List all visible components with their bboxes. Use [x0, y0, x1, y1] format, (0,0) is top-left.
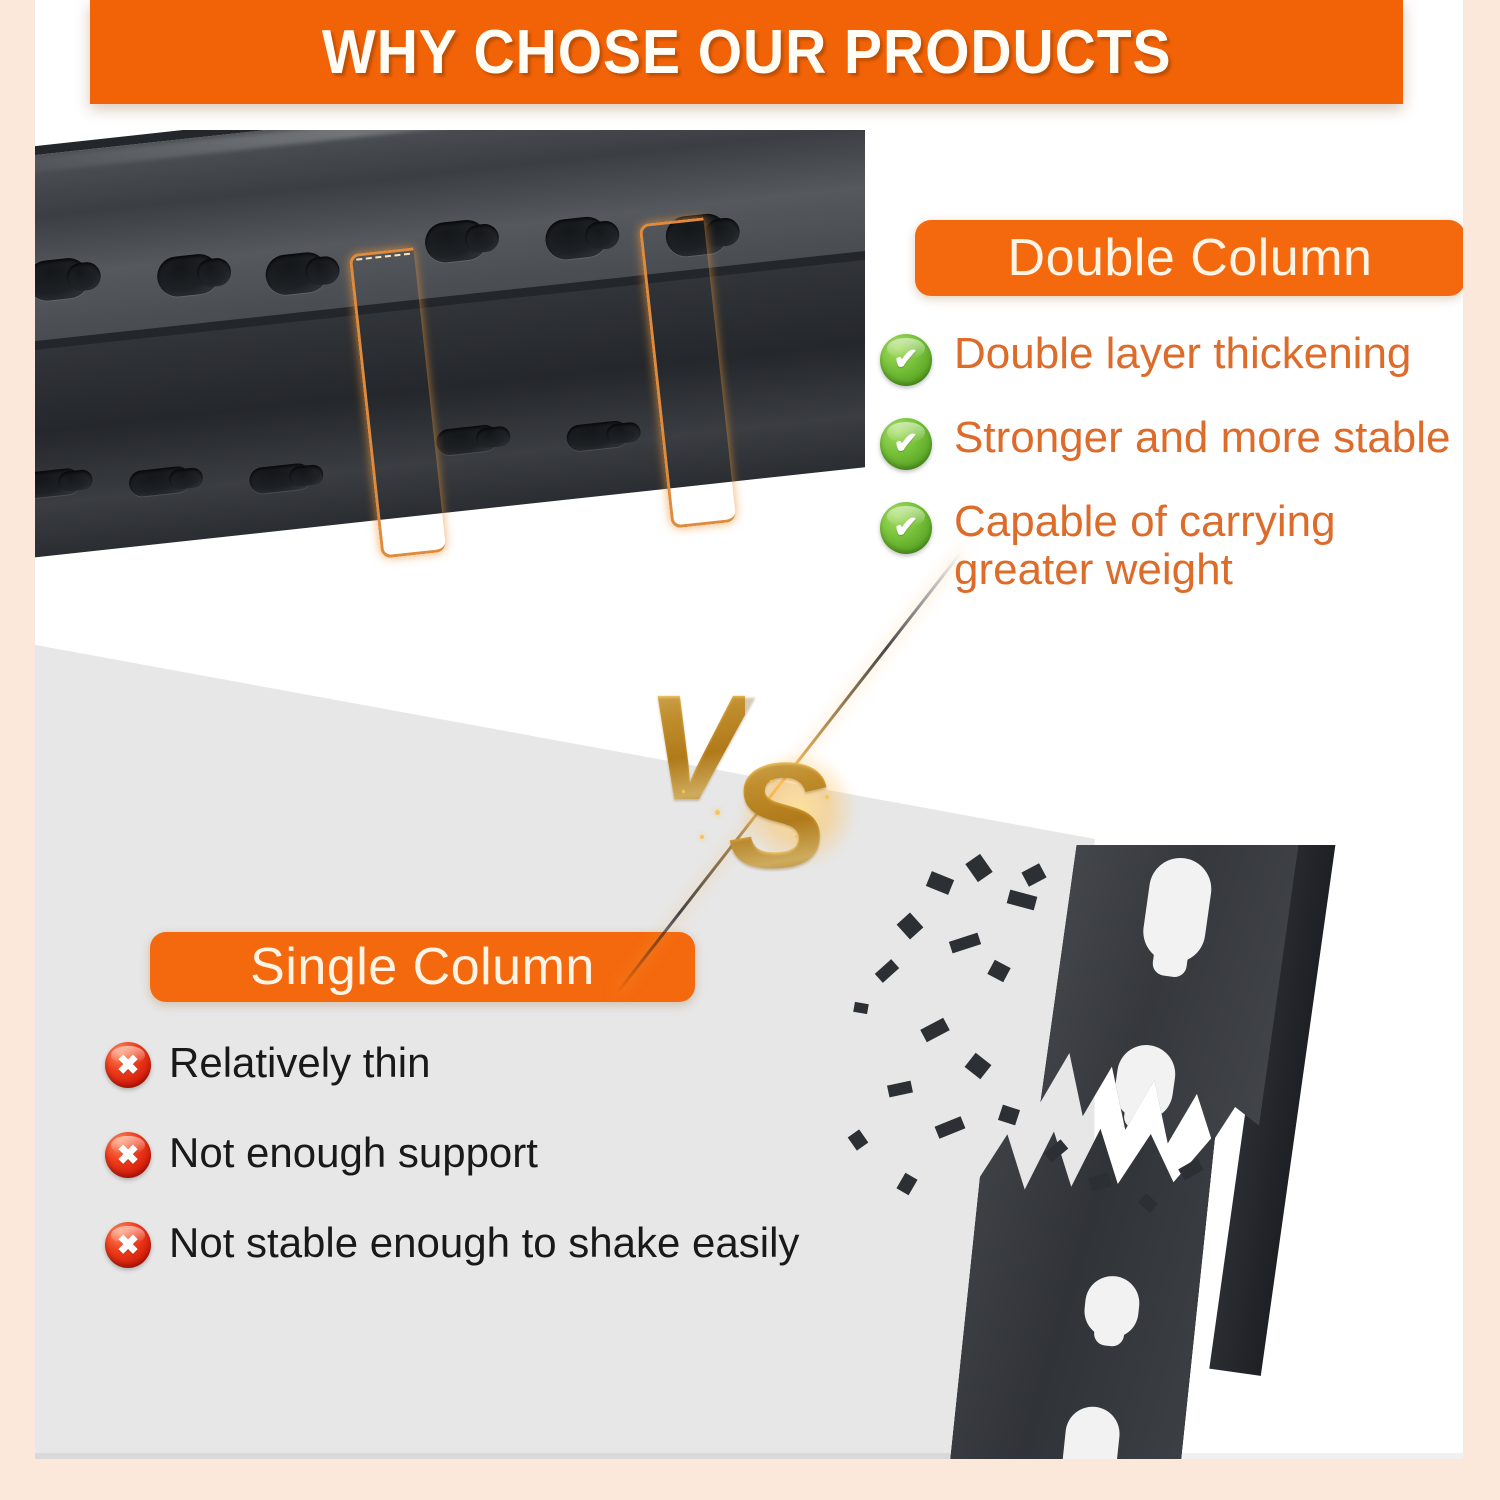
debris-fragment: [935, 1116, 966, 1139]
dash-marker: [356, 253, 410, 261]
con-label: Relatively thin: [169, 1040, 430, 1085]
header-banner: WHY CHOSE OUR PRODUCTS: [90, 0, 1403, 104]
list-item: ✖ Relatively thin: [105, 1040, 905, 1088]
spark-particle: [795, 835, 798, 838]
list-item: ✔ Capable of carrying greater weight: [880, 498, 1463, 593]
debris-fragment: [920, 1018, 950, 1043]
pro-label: Capable of carrying greater weight: [954, 498, 1384, 593]
debris-fragment: [987, 960, 1010, 983]
cross-icon-circle: ✖: [105, 1132, 151, 1178]
post-lower-fragment: [949, 1094, 1217, 1459]
double-column-photo: [35, 130, 865, 635]
badge-double-column: Double Column: [915, 220, 1463, 296]
check-icon-glyph: ✔: [893, 429, 918, 459]
spark-particle: [825, 795, 829, 799]
check-icon-circle: ✔: [880, 418, 932, 470]
debris-fragment: [1021, 863, 1046, 887]
vs-divider: V S: [620, 630, 950, 920]
spark-particle: [682, 790, 685, 793]
list-item: ✔ Double layer thickening: [880, 330, 1463, 386]
badge-single-column-label: Single Column: [250, 937, 595, 997]
cross-icon-circle: ✖: [105, 1222, 151, 1268]
keyhole-slot: [1059, 1404, 1122, 1459]
content-plate: Double Column ✔ Double layer thickening …: [35, 0, 1463, 1459]
list-item: ✔ Stronger and more stable: [880, 414, 1463, 470]
cross-icon: ✖: [105, 1042, 151, 1088]
check-icon: ✔: [880, 334, 932, 386]
check-icon: ✔: [880, 502, 932, 554]
pros-list: ✔ Double layer thickening ✔ Stronger and…: [880, 330, 1463, 621]
check-icon-circle: ✔: [880, 334, 932, 386]
check-icon-glyph: ✔: [893, 513, 918, 543]
pro-label: Stronger and more stable: [954, 414, 1451, 462]
check-icon: ✔: [880, 418, 932, 470]
check-icon-circle: ✔: [880, 502, 932, 554]
badge-double-column-label: Double Column: [1008, 228, 1373, 288]
spark-particle: [770, 780, 773, 783]
cons-list: ✖ Relatively thin ✖ Not enough support ✖: [105, 1040, 905, 1310]
product-comparison-poster: Double Column ✔ Double layer thickening …: [0, 0, 1500, 1500]
keyhole-slot: [1111, 1041, 1179, 1123]
debris-fragment: [875, 959, 899, 983]
vs-letter-s: S: [728, 740, 828, 890]
debris-fragment: [853, 1002, 869, 1014]
list-item: ✖ Not enough support: [105, 1130, 905, 1178]
debris-fragment: [998, 1105, 1020, 1126]
cross-icon: ✖: [105, 1222, 151, 1268]
broken-column-photo: [840, 845, 1463, 1459]
page-title: WHY CHOSE OUR PRODUCTS: [322, 17, 1172, 88]
cross-icon-glyph: ✖: [117, 1232, 140, 1259]
debris-fragment: [1007, 890, 1038, 911]
con-label: Not stable enough to shake easily: [169, 1220, 799, 1265]
badge-single-column: Single Column: [150, 932, 695, 1002]
cross-icon-circle: ✖: [105, 1042, 151, 1088]
debris-fragment: [949, 933, 981, 954]
list-item: ✖ Not stable enough to shake easily: [105, 1220, 905, 1268]
spark-particle: [715, 810, 720, 815]
cross-icon-glyph: ✖: [117, 1052, 140, 1079]
debris-fragment: [965, 854, 992, 882]
spark-particle: [700, 835, 704, 839]
keyhole-slot: [1082, 1273, 1142, 1340]
con-label: Not enough support: [169, 1130, 538, 1175]
cross-icon: ✖: [105, 1132, 151, 1178]
debris-fragment: [965, 1053, 992, 1079]
keyhole-slot: [1139, 854, 1215, 967]
check-icon-glyph: ✔: [893, 345, 918, 375]
cross-icon-glyph: ✖: [117, 1142, 140, 1169]
pro-label: Double layer thickening: [954, 330, 1411, 378]
